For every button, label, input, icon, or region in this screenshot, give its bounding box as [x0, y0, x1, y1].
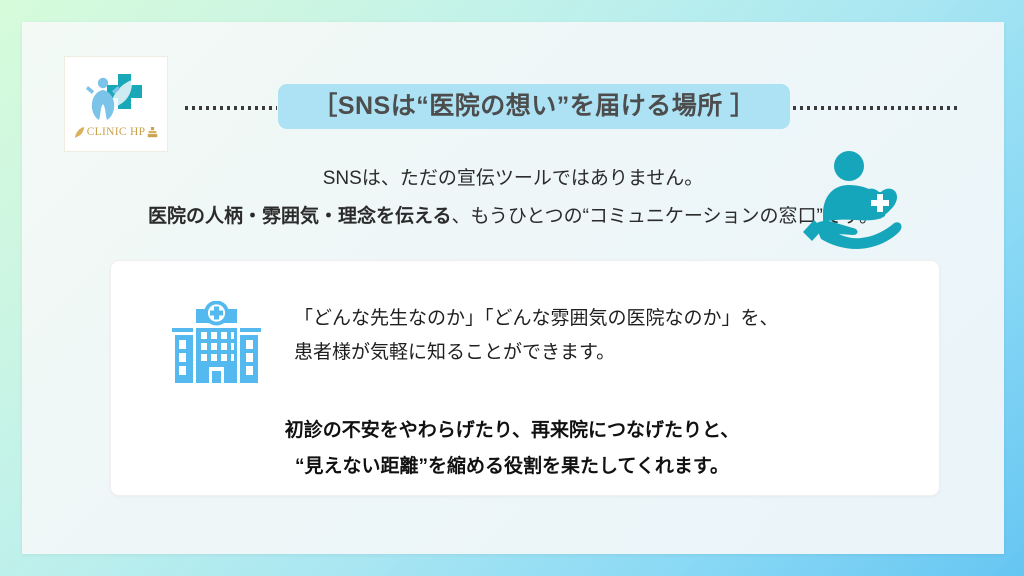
dotted-connector-right: [793, 106, 959, 110]
slide-root: CLINIC HP ［SNSは“医院の想い”を届ける場所 ］ SNSは、ただの宣…: [0, 0, 1024, 576]
page-title: ［SNSは“医院の想い”を届ける場所 ］: [312, 94, 755, 119]
card-paragraph-line-2: 患者様が気軽に知ることができます。: [294, 336, 779, 370]
quill-pen-icon: [74, 126, 85, 139]
card-emphasis: 初診の不安をやわらげたり、再来院につなげたりと、 “見えない距離”を縮める役割を…: [111, 413, 939, 485]
hand-holding-patient-heart-icon: [801, 150, 907, 250]
card-emphasis-line-2: “見えない距離”を縮める役割を果たしてくれます。: [111, 449, 913, 485]
clinic-logo-wordmark: CLINIC HP: [74, 126, 159, 139]
card-paragraph: 「どんな先生なのか」「どんな雰囲気の医院なのか」を、 患者様が気軽に知ることがで…: [294, 301, 779, 370]
lead-line-2-bold: 医院の人柄・雰囲気・理念を伝える: [148, 206, 451, 227]
card-emphasis-line-1: 初診の不安をやわらげたり、再来院につなげたりと、: [111, 413, 913, 449]
title-banner: ［SNSは“医院の想い”を届ける場所 ］: [278, 84, 790, 129]
clinic-hp-logo: CLINIC HP: [64, 56, 168, 152]
card-paragraph-line-1: 「どんな先生なのか」「どんな雰囲気の医院なのか」を、: [294, 302, 779, 336]
card-top-row: 「どんな先生なのか」「どんな雰囲気の医院なのか」を、 患者様が気軽に知ることがで…: [169, 301, 779, 383]
dotted-connector-left: [185, 106, 277, 110]
slide-inner-panel: CLINIC HP ［SNSは“医院の想い”を届ける場所 ］ SNSは、ただの宣…: [22, 22, 1004, 554]
clinic-logo-mark-icon: [85, 70, 147, 124]
hospital-building-icon: [169, 301, 264, 383]
seal-stamp-icon: [147, 126, 158, 139]
content-card: 「どんな先生なのか」「どんな雰囲気の医院なのか」を、 患者様が気軽に知ることがで…: [110, 260, 940, 496]
clinic-logo-text: CLINIC HP: [87, 126, 146, 138]
